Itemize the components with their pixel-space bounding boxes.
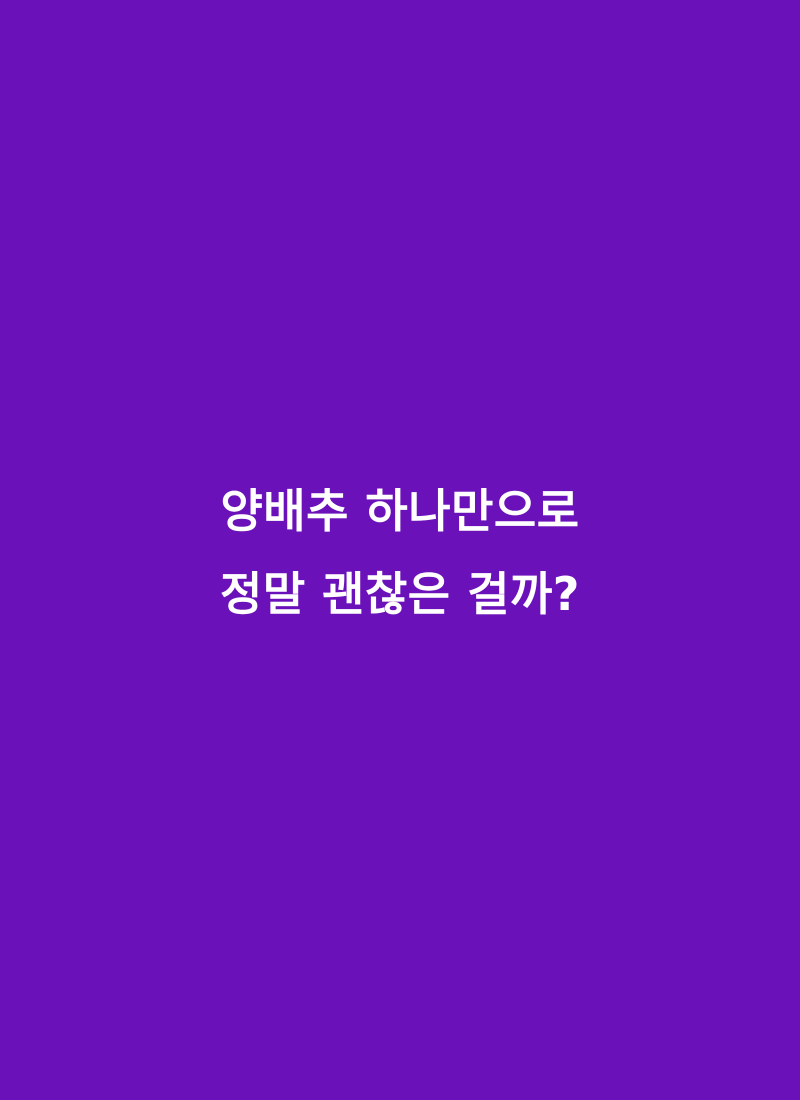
quote-card-canvas: 양배추 하나만으로 정말 괜찮은 걸까? — [0, 0, 800, 1100]
headline-line-1: 양배추 하나만으로 — [0, 470, 800, 553]
headline-text-block: 양배추 하나만으로 정말 괜찮은 걸까? — [0, 470, 800, 636]
headline-line-2: 정말 괜찮은 걸까? — [0, 553, 800, 636]
